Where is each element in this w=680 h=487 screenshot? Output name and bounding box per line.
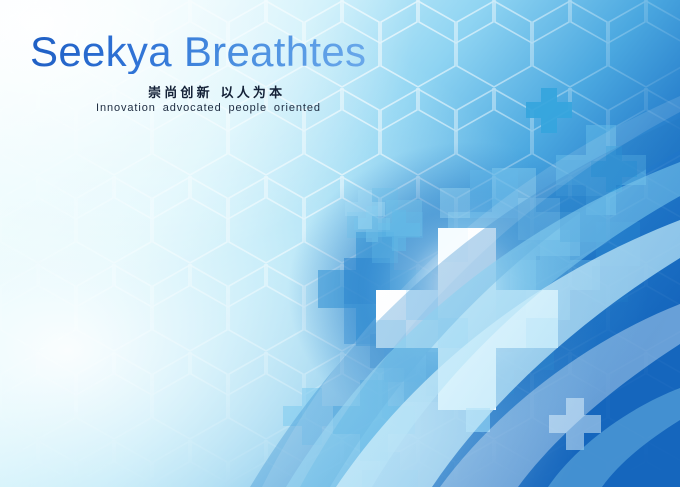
poster-canvas: Seekya Breathtes 崇尚创新 以人为本 Innovation ad… bbox=[0, 0, 680, 487]
poster-artwork bbox=[0, 0, 680, 487]
